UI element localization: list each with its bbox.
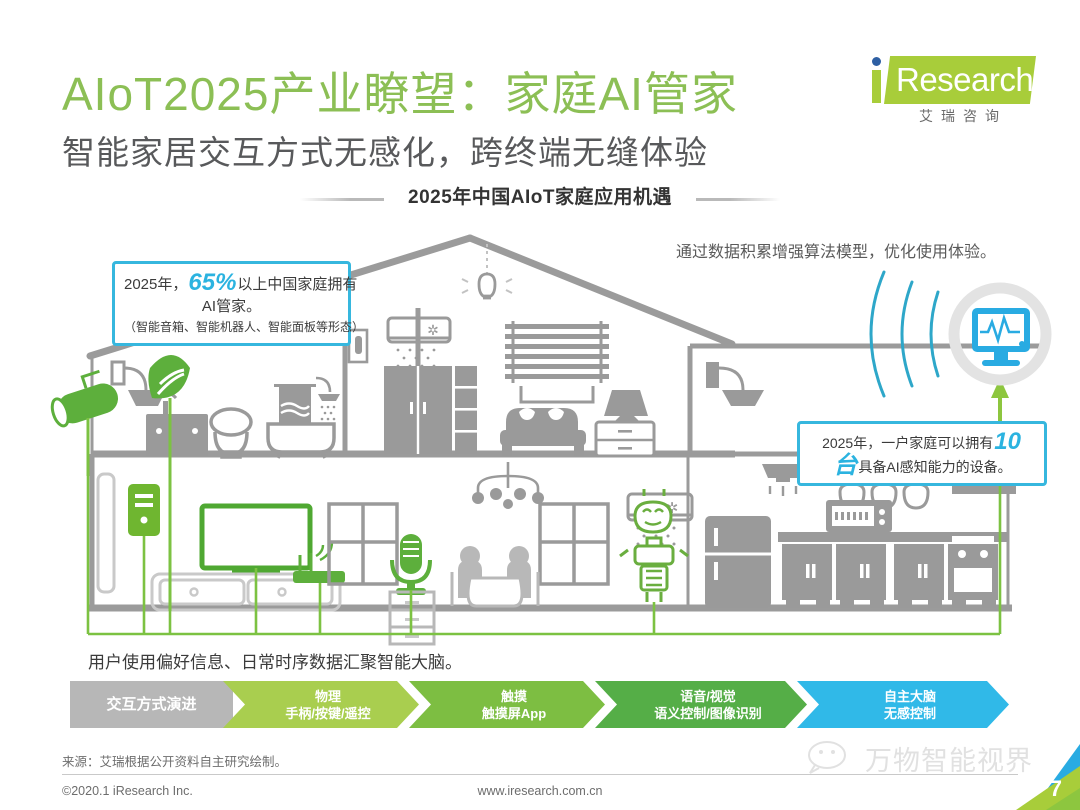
logo-wordmark: Research	[896, 60, 1033, 100]
logo-chinese-name: 艾瑞咨询	[888, 106, 1038, 126]
interaction-evolution-flow: 交互方式演进 物理 手柄/按键/遥控 触摸 触摸屏App 语音/视觉 语义控制/…	[70, 681, 1018, 728]
callout-right-line1-pre: 2025年，一户家庭可以拥有	[822, 435, 993, 451]
flow-step-autonomous-brain-line1: 自主大脑	[884, 688, 936, 705]
callout-right-highlight-unit: 台	[832, 452, 858, 479]
callout-left-line1: 2025年，65%以上中国家庭拥有	[124, 271, 339, 296]
svg-text:✲: ✲	[427, 322, 439, 338]
callout-device-count: 2025年，一户家庭可以拥有10 台具备AI感知能力的设备。	[797, 421, 1047, 486]
flow-step-autonomous-brain-line2: 无感控制	[884, 705, 936, 722]
slide-page: AIoT2025产业瞭望：家庭AI管家 智能家居交互方式无感化，跨终端无缝体验 …	[0, 0, 1080, 810]
callout-ai-butler: 2025年，65%以上中国家庭拥有 AI管家。 （智能音箱、智能机器人、智能面板…	[112, 261, 351, 346]
logo-i-dot-icon	[872, 57, 881, 66]
flow-step-physical-line1: 物理	[285, 688, 370, 705]
banner-title: 2025年中国AIoT家庭应用机遇	[0, 182, 1080, 209]
note-top: 通过数据积累增强算法模型，优化使用体验。	[676, 238, 996, 262]
callout-right-highlight-number: 10	[993, 428, 1022, 455]
callout-left-line1-pre: 2025年，	[124, 276, 187, 293]
wechat-watermark: 万物智能视界	[805, 737, 1035, 791]
source-note: 来源：艾瑞根据公开资料自主研究绘制。	[62, 751, 287, 770]
flow-step-voice-vision-line2: 语义控制/图像识别	[654, 705, 762, 722]
page-number: 7	[1050, 776, 1062, 802]
page-subtitle: 智能家居交互方式无感化，跨终端无缝体验	[62, 126, 708, 174]
flow-step-physical-line2: 手柄/按键/遥控	[285, 705, 370, 722]
page-title: AIoT2025产业瞭望：家庭AI管家	[62, 58, 738, 124]
wechat-icon	[805, 737, 865, 777]
callout-left-line1-post: 以上中国家庭拥有	[237, 276, 357, 293]
flow-step-voice-vision-line1: 语音/视觉	[654, 688, 762, 705]
flow-step-touch-line2: 触摸屏App	[482, 705, 546, 722]
callout-left-highlight: 65%	[187, 269, 237, 296]
flow-step-label-text: 交互方式演进	[106, 696, 196, 713]
callout-right-line2: 台具备AI感知能力的设备。	[808, 455, 1036, 478]
callout-right-line2-post: 具备AI感知能力的设备。	[858, 459, 1011, 475]
flow-step-touch-line1: 触摸	[482, 688, 546, 705]
watermark-text: 万物智能视界	[865, 739, 1033, 778]
flow-step-touch[interactable]: 触摸 触摸屏App	[409, 681, 605, 728]
flow-step-physical[interactable]: 物理 手柄/按键/遥控	[223, 681, 419, 728]
logo-i-stem	[872, 70, 881, 103]
callout-left-line3: （智能音箱、智能机器人、智能面板等形态）	[124, 317, 339, 337]
iresearch-logo: Research 艾瑞咨询	[858, 54, 1038, 130]
flow-step-voice-vision[interactable]: 语音/视觉 语义控制/图像识别	[595, 681, 807, 728]
flow-step-label: 交互方式演进	[70, 681, 233, 728]
callout-left-line2: AI管家。	[124, 296, 339, 317]
section-banner: 2025年中国AIoT家庭应用机遇	[0, 182, 1080, 216]
flow-step-autonomous-brain[interactable]: 自主大脑 无感控制	[797, 681, 1009, 728]
note-bottom: 用户使用偏好信息、日常时序数据汇聚智能大脑。	[88, 648, 462, 673]
